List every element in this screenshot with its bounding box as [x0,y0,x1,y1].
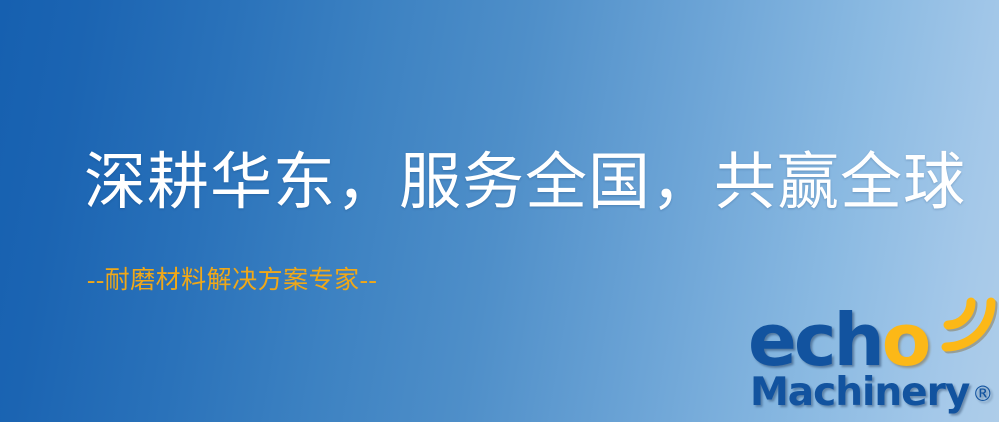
logo-wordmark: echo [748,304,928,376]
logo-subword-text: Machinery [750,370,969,415]
banner-headline: 深耕华东，服务全国，共赢全球 [84,152,966,214]
company-logo[interactable]: echo Machinery® [744,300,999,422]
signal-waves-icon [938,294,999,358]
banner-subtitle: --耐磨材料解决方案专家-- [87,268,377,293]
hero-banner: 深耕华东，服务全国，共赢全球 --耐磨材料解决方案专家-- echo Machi… [0,0,999,422]
logo-subword: Machinery® [750,373,993,412]
registered-trademark-icon: ® [972,382,993,406]
